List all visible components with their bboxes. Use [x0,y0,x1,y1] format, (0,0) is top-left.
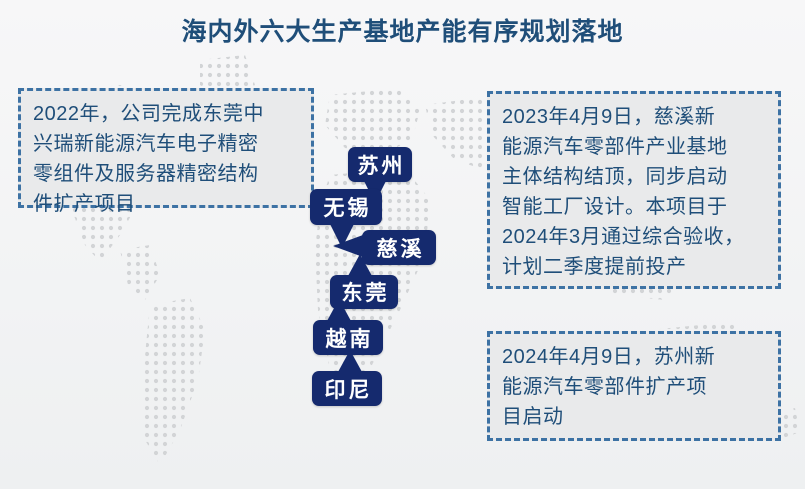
note-line: 能源汽车零部件扩产项 [502,372,768,402]
bubble-tail-icon [348,254,372,276]
bubble-tail-icon [338,350,362,372]
note-line: 零组件及服务器精密结构 [33,159,301,189]
note-line: 2024年4月9日，苏州新 [502,342,768,372]
note-line: 兴瑞新能源汽车电子精密 [33,129,301,159]
note-line: 主体结构结顶，同步启动 [502,162,768,192]
note-line: 智能工厂设计。本项目于 [502,192,768,222]
location-bubble-label: 无锡 [321,192,372,222]
location-bubble-label: 越南 [323,323,374,353]
note-line: 目启动 [502,402,768,432]
suzhou-expansion-note: 2024年4月9日，苏州新 能源汽车零部件扩产项 目启动 [487,331,781,441]
note-line: 2022年，公司完成东莞中 [33,99,301,129]
note-line: 2023年4月9日，慈溪新 [502,102,768,132]
location-bubble-cixi[interactable]: 慈溪 [362,230,436,265]
location-bubble-label: 苏州 [355,150,406,180]
bubble-tail-icon [327,299,351,321]
slide-canvas: 海内外六大生产基地产能有序规划落地 2022年，公司完成东莞中 兴瑞新能源汽车电… [0,0,805,489]
dongguan-expansion-note: 2022年，公司完成东莞中 兴瑞新能源汽车电子精密 零组件及服务器精密结构 件扩… [18,88,314,208]
location-bubble-wuxi[interactable]: 无锡 [310,189,382,225]
note-line: 2024年3月通过综合验收， [502,222,768,252]
page-title: 海内外六大生产基地产能有序规划落地 [0,12,805,48]
note-line: 能源汽车零部件产业基地 [502,132,768,162]
location-bubble-label: 印尼 [322,374,373,404]
note-line: 件扩产项目 [33,189,301,219]
location-bubble-label: 慈溪 [374,233,425,263]
location-bubble-indonesia[interactable]: 印尼 [312,371,382,406]
location-bubble-suzhou[interactable]: 苏州 [348,147,412,182]
cixi-base-note: 2023年4月9日，慈溪新 能源汽车零部件产业基地 主体结构结顶，同步启动 智能… [487,91,781,289]
note-line: 计划二季度提前投产 [502,252,768,282]
